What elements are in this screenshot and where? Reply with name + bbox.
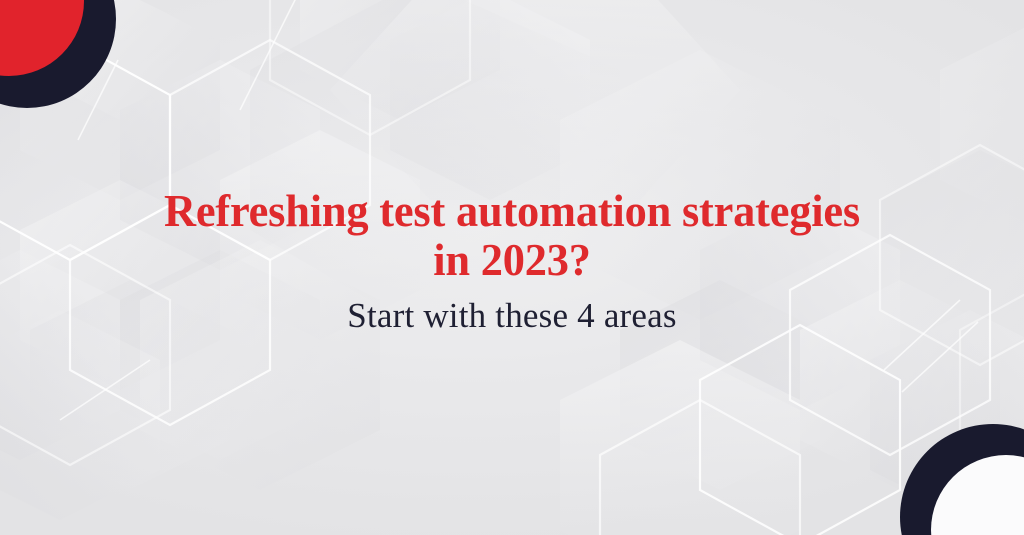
banner-headline: Refreshing test automation strategies in… xyxy=(0,186,1024,284)
headline-line-2: in 2023? xyxy=(18,235,1006,284)
headline-line-1: Refreshing test automation strategies xyxy=(18,186,1006,235)
banner-subheadline: Start with these 4 areas xyxy=(0,296,1024,336)
banner-text-block: Refreshing test automation strategies in… xyxy=(0,186,1024,336)
promo-banner: Refreshing test automation strategies in… xyxy=(0,0,1024,535)
